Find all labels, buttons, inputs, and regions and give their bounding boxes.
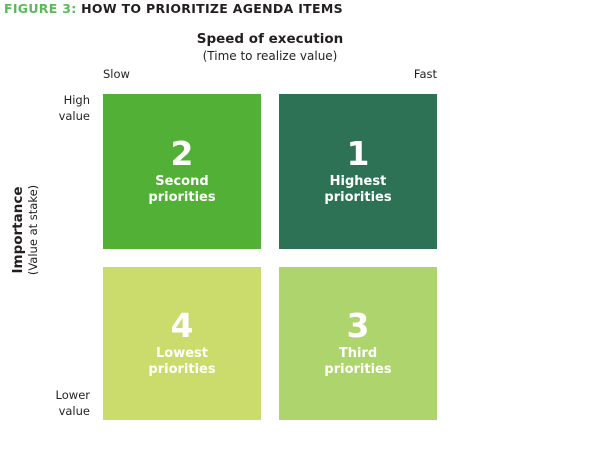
x-axis-title-group: Speed of execution (Time to realize valu… — [103, 31, 437, 64]
page-title: HOW TO PRIORITIZE AGENDA ITEMS — [81, 1, 343, 16]
y-axis-tick-high-line2: value — [59, 109, 90, 123]
y-axis-title-group: Importance (Value at stake) — [11, 150, 41, 310]
quadrant-label-1-line2: priorities — [324, 190, 391, 206]
y-axis-title: Importance — [11, 150, 26, 310]
figure-header: FIGURE 3: HOW TO PRIORITIZE AGENDA ITEMS — [4, 0, 343, 18]
y-axis-tick-lower-line1: Lower — [56, 388, 90, 402]
quadrant-highest-priorities: 1 Highest priorities — [279, 94, 437, 249]
quadrant-label-3: Third priorities — [324, 346, 391, 378]
figure-container: FIGURE 3: HOW TO PRIORITIZE AGENDA ITEMS… — [0, 0, 600, 470]
quadrant-rank-4: 4 — [171, 309, 194, 342]
quadrant-rank-1: 1 — [347, 137, 370, 170]
quadrant-label-2: Second priorities — [148, 174, 215, 206]
priority-matrix: 2 Second priorities 1 Highest priorities… — [103, 94, 437, 420]
quadrant-label-3-line2: priorities — [324, 362, 391, 378]
quadrant-rank-3: 3 — [347, 309, 370, 342]
quadrant-label-4-line2: priorities — [148, 362, 215, 378]
quadrant-label-2-line1: Second — [148, 174, 215, 190]
x-axis-subtitle: (Time to realize value) — [103, 48, 437, 64]
quadrant-label-1-line1: Highest — [324, 174, 391, 190]
figure-number-label: FIGURE 3: — [4, 1, 77, 16]
x-axis-tick-slow: Slow — [103, 67, 130, 81]
y-axis-tick-lower: Lower value — [0, 387, 90, 419]
quadrant-second-priorities: 2 Second priorities — [103, 94, 261, 249]
quadrant-label-4: Lowest priorities — [148, 346, 215, 378]
y-axis-tick-high: High value — [0, 92, 90, 124]
quadrant-lowest-priorities: 4 Lowest priorities — [103, 267, 261, 420]
quadrant-label-1: Highest priorities — [324, 174, 391, 206]
y-axis-subtitle: (Value at stake) — [26, 150, 41, 310]
y-axis-tick-lower-line2: value — [59, 404, 90, 418]
quadrant-rank-2: 2 — [171, 137, 194, 170]
y-axis-tick-high-line1: High — [64, 93, 90, 107]
quadrant-label-3-line1: Third — [324, 346, 391, 362]
quadrant-label-2-line2: priorities — [148, 190, 215, 206]
quadrant-label-4-line1: Lowest — [148, 346, 215, 362]
quadrant-third-priorities: 3 Third priorities — [279, 267, 437, 420]
x-axis-title: Speed of execution — [103, 31, 437, 48]
x-axis-tick-fast: Fast — [337, 67, 437, 81]
